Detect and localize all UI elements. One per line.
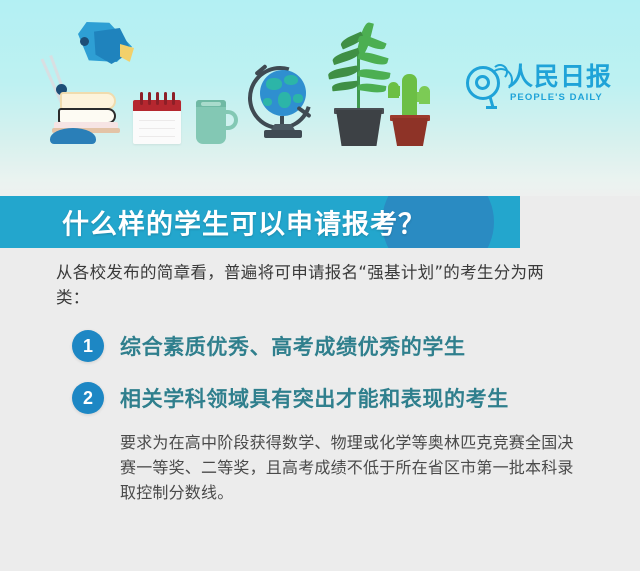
page-title: 什么样的学生可以申请报考？ [62,203,426,242]
item-number-badge: 1 [72,330,104,362]
calendar-ring [156,92,159,105]
globe-icon [244,62,320,146]
list-item-label: 相关学科领域具有突出才能和表现的考生 [120,383,509,413]
cactus-arm [416,92,429,102]
calendar-ring [172,92,175,105]
desk-lamp-and-books-illustration [36,18,146,148]
calendar-ring [148,92,151,105]
at-sign-tail-icon [486,106,497,109]
plant-pot [336,110,382,146]
calendar-line [139,120,175,121]
list-item-label: 综合素质优秀、高考成绩优秀的学生 [120,331,466,361]
lamp-head-joint-icon [80,37,89,46]
calendar-line [139,136,175,137]
lamp-base-icon [50,128,96,144]
logo-english-name: PEOPLE'S DAILY [510,92,603,103]
calendar-ring [164,92,167,105]
hero-illustration-band: 人民日报 PEOPLE'S DAILY [0,0,640,196]
desk-calendar-icon [133,92,181,144]
cactus-arm [388,86,400,96]
cactus-body [402,74,417,120]
section-title-banner: 什么样的学生可以申请报考？ [0,196,520,248]
peoples-daily-logo: 人民日报 PEOPLE'S DAILY [466,62,596,112]
content-body: 从各校发布的简章看，普遍将可申请报名“强基计划”的考生分为两类： 1 综合素质优… [0,248,640,571]
at-sign-inner-icon [475,75,490,90]
logo-chinese-name: 人民日报 [508,62,612,92]
item-number-badge: 2 [72,382,104,414]
detail-paragraph: 要求为在高中阶段获得数学、物理或化学等奥林匹克竞赛全国决赛一等奖、二等奖，且高考… [120,430,580,505]
coffee-mug-icon [196,96,238,144]
cactus-pot [392,118,428,146]
mug-inner [201,102,221,106]
calendar-ring [140,92,143,105]
globe-base [264,130,302,138]
potted-cactus-icon [380,66,442,146]
calendar-line [139,128,175,129]
infographic-page: 人民日报 PEOPLE'S DAILY 什么样的学生可以申请报考？ 从各校发布的… [0,0,640,571]
intro-paragraph: 从各校发布的简章看，普遍将可申请报名“强基计划”的考生分为两类： [56,260,576,310]
